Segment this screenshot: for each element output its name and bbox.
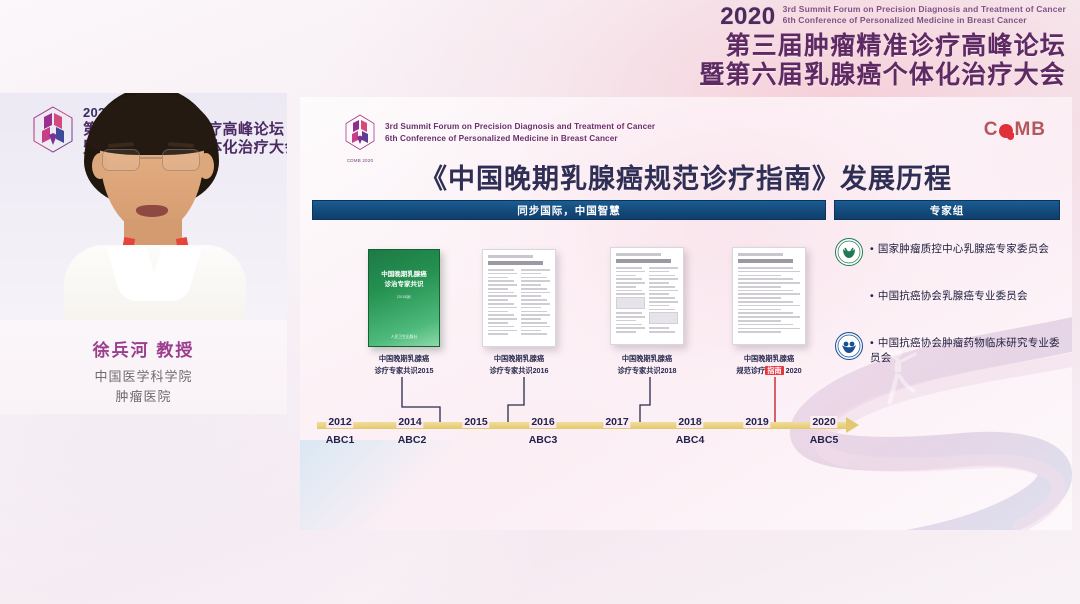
speaker-name: 徐兵河 教授 bbox=[0, 336, 287, 361]
section-bar-right: 专家组 bbox=[834, 200, 1060, 220]
event-cn-line2: 暨第六届乳腺癌个体化治疗大会 bbox=[699, 63, 1066, 88]
timeline-year-2012: 2012 bbox=[326, 416, 353, 428]
speaker-mouth bbox=[136, 205, 168, 217]
speaker-caption: 徐兵河 教授 中国医学科学院 肿瘤医院 bbox=[0, 320, 287, 414]
slide-logo-en-line1: 3rd Summit Forum on Precision Diagnosis … bbox=[385, 121, 655, 133]
caption-line2-pre: 规范诊疗 bbox=[736, 366, 765, 375]
expert-list-item: 国家肿瘤质控中心乳腺癌专家委员会 bbox=[834, 237, 1064, 267]
speaker-glasses-right bbox=[162, 149, 200, 171]
comb-suffix: MB bbox=[1014, 119, 1046, 141]
book-cover-2015: 中国晚期乳腺癌 诊治专家共识 （2015版） 人民卫生出版社 bbox=[368, 249, 440, 347]
caption-line2-post: 2020 bbox=[786, 366, 802, 375]
caption-line1: 中国晚期乳腺癌 bbox=[699, 353, 839, 365]
document-caption-2015: 中国晚期乳腺癌 诊疗专家共识2015 bbox=[339, 353, 469, 376]
slide-logo-en-line2: 6th Conference of Personalized Medicine … bbox=[385, 133, 655, 145]
timeline-year-2016: 2016 bbox=[529, 416, 556, 428]
timeline-year-2018: 2018 bbox=[676, 416, 703, 428]
speaker-video-panel[interactable]: 2020 第三届肿瘤精准诊疗高峰论坛 暨第六届乳腺癌个体化治疗大会 bbox=[0, 93, 287, 320]
document-caption-2018: 中国晚期乳腺癌 诊疗专家共识2018 bbox=[582, 353, 712, 376]
section-bar-left: 同步国际，中国智慧 bbox=[312, 200, 826, 220]
timeline-year-2017: 2017 bbox=[603, 416, 630, 428]
event-en-line1: 3rd Summit Forum on Precision Diagnosis … bbox=[783, 4, 1066, 15]
speaker-org-line1: 中国医学科学院 bbox=[0, 367, 287, 387]
expert-list-item: 中国抗癌协会肿瘤药物临床研究专业委员会 bbox=[834, 331, 1064, 361]
timeline-year-2014: 2014 bbox=[396, 416, 423, 428]
expert-item-label: 中国抗癌协会乳腺癌专业委员会 bbox=[866, 289, 1028, 304]
timeline-marker-abc4: ABC4 bbox=[676, 434, 705, 446]
paper-page-2020 bbox=[732, 247, 806, 345]
timeline-arrowhead-icon bbox=[846, 417, 859, 433]
caption-line1: 中国晚期乳腺癌 bbox=[582, 353, 712, 365]
event-en-line2: 6th Conference of Personalized Medicine … bbox=[783, 15, 1066, 26]
book-title-line1: 中国晚期乳腺癌 bbox=[377, 270, 431, 280]
expert-item-label: 国家肿瘤质控中心乳腺癌专家委员会 bbox=[866, 242, 1049, 257]
speaker-ear-right bbox=[198, 153, 214, 179]
document-thumb-2020[interactable] bbox=[732, 247, 806, 345]
document-thumb-2015[interactable]: 中国晚期乳腺癌 诊治专家共识 （2015版） 人民卫生出版社 bbox=[368, 249, 440, 347]
expert-group-list: 国家肿瘤质控中心乳腺癌专家委员会 中国抗癌协会乳腺癌专业委员会 中国抗癌协会肿瘤… bbox=[834, 237, 1064, 378]
speaker-figure bbox=[58, 93, 248, 320]
timeline-year-2019: 2019 bbox=[743, 416, 770, 428]
speaker-glasses-bridge bbox=[140, 157, 162, 159]
comb-blood-drop-icon bbox=[999, 124, 1013, 138]
comb-brand-logo: CMB bbox=[984, 119, 1046, 141]
book-title-line2: 诊治专家共识 bbox=[377, 280, 431, 290]
document-thumb-2016[interactable] bbox=[482, 249, 556, 347]
speaker-glasses-left bbox=[102, 149, 140, 171]
expert-item-label: 中国抗癌协会肿瘤药物临床研究专业委员会 bbox=[866, 336, 1064, 366]
expert-list-item: 中国抗癌协会乳腺癌专业委员会 bbox=[834, 284, 1064, 314]
timeline-year-2015: 2015 bbox=[462, 416, 489, 428]
document-caption-2020: 中国晚期乳腺癌 规范诊疗指南 2020 bbox=[699, 353, 839, 376]
caption-highlight-guideline: 指南 bbox=[765, 366, 783, 375]
book-publisher: 人民卫生出版社 bbox=[369, 335, 439, 340]
document-caption-2016: 中国晚期乳腺癌 诊疗专家共识2016 bbox=[454, 353, 584, 376]
caption-line1: 中国晚期乳腺癌 bbox=[454, 353, 584, 365]
slide-corner-decoration bbox=[300, 440, 450, 530]
timeline-marker-abc5: ABC5 bbox=[810, 434, 839, 446]
slide-title: 《中国晚期乳腺癌规范诊疗指南》发展历程 bbox=[300, 157, 1072, 196]
paper-page-2016 bbox=[482, 249, 556, 347]
book-subtitle: （2015版） bbox=[379, 294, 429, 300]
comb-prefix: C bbox=[984, 119, 999, 141]
speaker-org-line2: 肿瘤医院 bbox=[0, 387, 287, 407]
timeline-marker-abc1: ABC1 bbox=[326, 434, 355, 446]
timeline-marker-abc3: ABC3 bbox=[529, 434, 558, 446]
green-emblem-icon bbox=[834, 237, 864, 267]
screen-root: 2020 3rd Summit Forum on Precision Diagn… bbox=[0, 0, 1080, 604]
event-header: 2020 3rd Summit Forum on Precision Diagn… bbox=[699, 4, 1066, 88]
slide-hex-logo-icon: CDMB 2020 bbox=[343, 114, 377, 152]
event-cn-line1: 第三届肿瘤精准诊疗高峰论坛 bbox=[699, 34, 1066, 59]
event-year: 2020 bbox=[720, 5, 775, 29]
timeline-year-2020: 2020 bbox=[810, 416, 837, 428]
caption-line1: 中国晚期乳腺癌 bbox=[339, 353, 469, 365]
paper-page-2018 bbox=[610, 247, 684, 345]
timeline-marker-abc2: ABC2 bbox=[398, 434, 427, 446]
document-thumb-2018[interactable] bbox=[610, 247, 684, 345]
slide-event-logo: CDMB 2020 3rd Summit Forum on Precision … bbox=[343, 114, 655, 152]
presentation-slide[interactable]: CDMB 2020 3rd Summit Forum on Precision … bbox=[300, 97, 1072, 530]
